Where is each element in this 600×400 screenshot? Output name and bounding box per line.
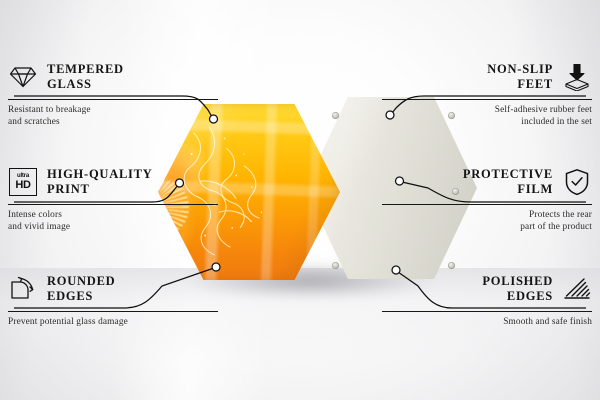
feature-rounded-edges[interactable]: Rounded Edges Prevent potential glass da… <box>8 270 218 328</box>
shield-check-icon <box>562 167 592 197</box>
feature-title: Protective Film <box>463 167 553 198</box>
feature-header: Tempered Glass <box>8 58 218 96</box>
feature-header: Rounded Edges <box>8 270 218 308</box>
ultra-hd-large-label: HD <box>15 180 30 191</box>
rounded-corner-icon <box>8 274 38 304</box>
rubber-foot <box>448 262 455 269</box>
feature-protective-film[interactable]: Protective Film Protects the rear part o… <box>382 163 592 234</box>
feature-description: Protects the rear part of the product <box>382 209 592 234</box>
feature-polished-edges[interactable]: Polished Edges Smooth and safe finish <box>382 270 592 328</box>
rubber-foot <box>332 262 339 269</box>
feature-header: Protective Film <box>382 163 592 201</box>
ultra-hd-icon: ultra HD <box>8 167 38 197</box>
feature-description: Self-adhesive rubber feet included in th… <box>382 104 592 129</box>
feature-divider <box>8 99 218 100</box>
feature-title: Rounded Edges <box>47 274 115 305</box>
feature-title: High-Quality Print <box>47 167 153 198</box>
rubber-foot <box>332 112 339 119</box>
feature-description: Prevent potential glass damage <box>8 316 218 328</box>
feature-description: Intense colors and vivid image <box>8 209 218 234</box>
press-foot-icon <box>562 62 592 92</box>
feature-divider <box>382 311 592 312</box>
feature-header: Polished Edges <box>382 270 592 308</box>
feature-title: Tempered Glass <box>47 62 124 93</box>
feature-high-quality-print[interactable]: ultra HD High-Quality Print Intense colo… <box>8 163 218 234</box>
product-infographic: Tempered Glass Resistant to breakage and… <box>0 0 600 400</box>
feature-divider <box>8 311 218 312</box>
feature-title: Polished Edges <box>482 274 553 305</box>
hatched-corner-icon <box>562 274 592 304</box>
feature-non-slip-feet[interactable]: Non-Slip Feet Self-adhesive rubber feet … <box>382 58 592 129</box>
feature-description: Resistant to breakage and scratches <box>8 104 218 129</box>
feature-description: Smooth and safe finish <box>382 316 592 328</box>
diamond-icon <box>8 62 38 92</box>
feature-divider <box>8 204 218 205</box>
feature-tempered-glass[interactable]: Tempered Glass Resistant to breakage and… <box>8 58 218 129</box>
feature-header: ultra HD High-Quality Print <box>8 163 218 201</box>
feature-divider <box>382 99 592 100</box>
feature-header: Non-Slip Feet <box>382 58 592 96</box>
feature-title: Non-Slip Feet <box>487 62 553 93</box>
feature-divider <box>382 204 592 205</box>
